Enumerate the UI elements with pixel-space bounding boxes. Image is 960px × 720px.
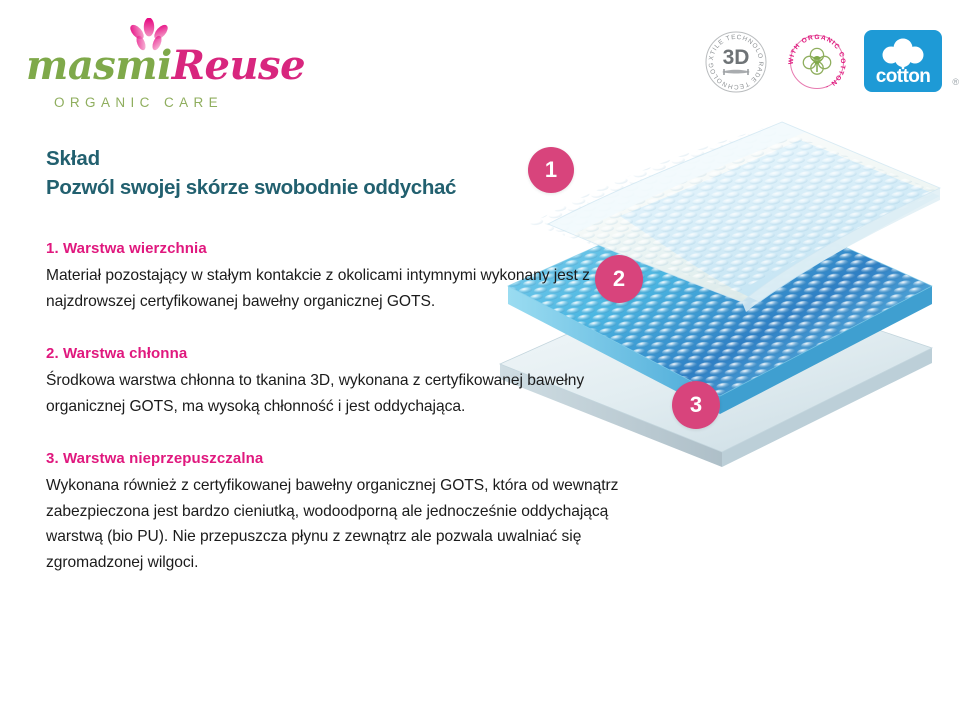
callout-badge-1: 1 [528, 147, 574, 193]
page-title: Skład Pozwól swojej skórze swobodnie odd… [46, 144, 566, 202]
layer-1-body: Materiał pozostający w stałym kontakcie … [46, 263, 656, 314]
layer-2-body: Środkowa warstwa chłonna to tkanina 3D, … [46, 368, 656, 419]
brand-name-reuse: Reuse [172, 42, 305, 89]
organic-cotton-seal-icon: MADE WITH ORGANIC COTTON - [782, 27, 852, 97]
3d-textile-technology-seal-icon: TEXTILE TECHNOLOGY TRADE TECHNOLOGY 3D [702, 28, 770, 96]
brand-wordmark: masmiReuse [26, 45, 276, 87]
svg-text:cotton: cotton [876, 66, 930, 87]
layer-2-title: 2. Warstwa chłonna [46, 343, 656, 365]
layer-section-3: 3. Warstwa nieprzepuszczalna Wykonana ró… [46, 448, 656, 575]
page-title-line-1: Skład [46, 144, 566, 173]
layer-1-title: 1. Warstwa wierzchnia [46, 238, 656, 260]
layer-3-title: 3. Warstwa nieprzepuszczalna [46, 448, 656, 470]
certification-badges: TEXTILE TECHNOLOGY TRADE TECHNOLOGY 3D M… [702, 24, 948, 100]
page-title-line-2: Pozwól swojej skórze swobodnie oddychać [46, 173, 566, 202]
page-root: masmiReuse ORGANIC CARE TEXTILE TECHNOLO… [0, 0, 960, 720]
callout-badge-3: 3 [672, 381, 720, 429]
registered-trademark-symbol: ® [952, 77, 959, 87]
layer-descriptions: 1. Warstwa wierzchnia Materiał pozostają… [46, 238, 656, 575]
brand-name-masmi: masmi [26, 42, 172, 89]
callout-badge-2: 2 [595, 255, 643, 303]
brand-tagline: ORGANIC CARE [54, 95, 223, 110]
cotton-usa-logo-icon: cotton ® [864, 30, 948, 94]
brand-logo: masmiReuse ORGANIC CARE [26, 18, 276, 110]
layer-section-2: 2. Warstwa chłonna Środkowa warstwa chło… [46, 343, 656, 419]
layer-section-1: 1. Warstwa wierzchnia Materiał pozostają… [46, 238, 656, 314]
svg-text:3D: 3D [723, 46, 750, 69]
layer-3-body: Wykonana również z certyfikowanej bawełn… [46, 473, 656, 575]
